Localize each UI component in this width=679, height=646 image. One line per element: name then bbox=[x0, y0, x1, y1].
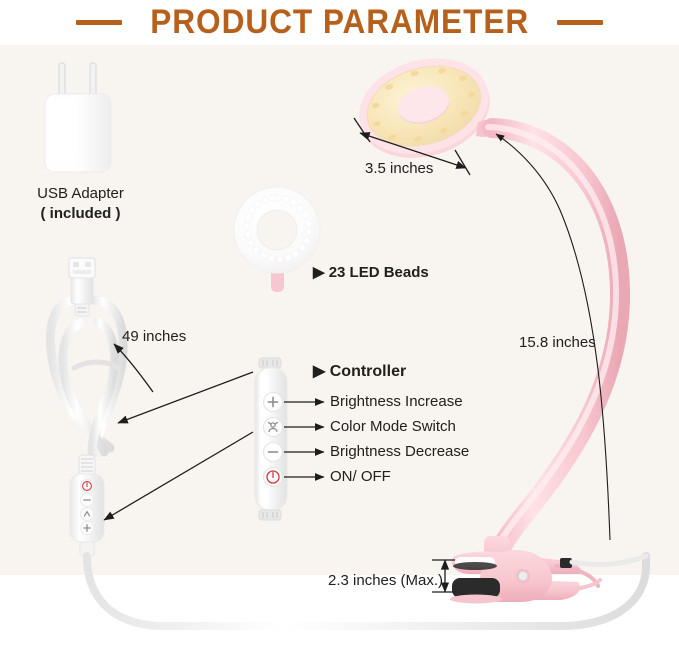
led-beads-label: ▶ 23 LED Beads bbox=[313, 263, 429, 281]
clamp-base-illustration bbox=[450, 536, 646, 604]
controller-label-color-mode: Color Mode Switch bbox=[330, 418, 456, 435]
usb-adapter-illustration bbox=[45, 63, 111, 172]
adapter-label-line1: USB Adapter bbox=[13, 185, 148, 202]
usb-a-connector bbox=[69, 258, 95, 316]
controller-illustration bbox=[255, 358, 324, 520]
controller-label-brightness-increase: Brightness Increase bbox=[330, 393, 463, 410]
adapter-label-line2: ( included ) bbox=[13, 205, 148, 222]
controller-label-brightness-decrease: Brightness Decrease bbox=[330, 443, 469, 460]
leader-controller bbox=[104, 372, 253, 520]
led-beads-ring-illustration bbox=[234, 187, 320, 292]
usb-cable-illustration bbox=[50, 300, 123, 452]
controller-label-power: ON/ OFF bbox=[330, 468, 391, 485]
head-diameter-label: 3.5 inches bbox=[365, 160, 433, 177]
inline-controller-illustration bbox=[70, 455, 104, 556]
cable-tie bbox=[74, 362, 118, 368]
clamp-opening-label: 2.3 inches (Max.) bbox=[328, 572, 443, 589]
cable-length-label: 49 inches bbox=[122, 328, 186, 345]
controller-button-brightness-decrease[interactable] bbox=[264, 443, 283, 462]
controller-title: ▶ Controller bbox=[313, 361, 406, 381]
product-illustration bbox=[0, 0, 679, 646]
controller-button-power[interactable] bbox=[264, 468, 283, 487]
lamp-head-illustration bbox=[348, 44, 501, 173]
controller-button-brightness-increase[interactable] bbox=[264, 393, 283, 412]
infographic-canvas: PRODUCT PARAMETER bbox=[0, 0, 679, 646]
gooseneck-length-label: 15.8 inches bbox=[519, 334, 596, 351]
controller-button-color-mode[interactable] bbox=[264, 418, 283, 437]
